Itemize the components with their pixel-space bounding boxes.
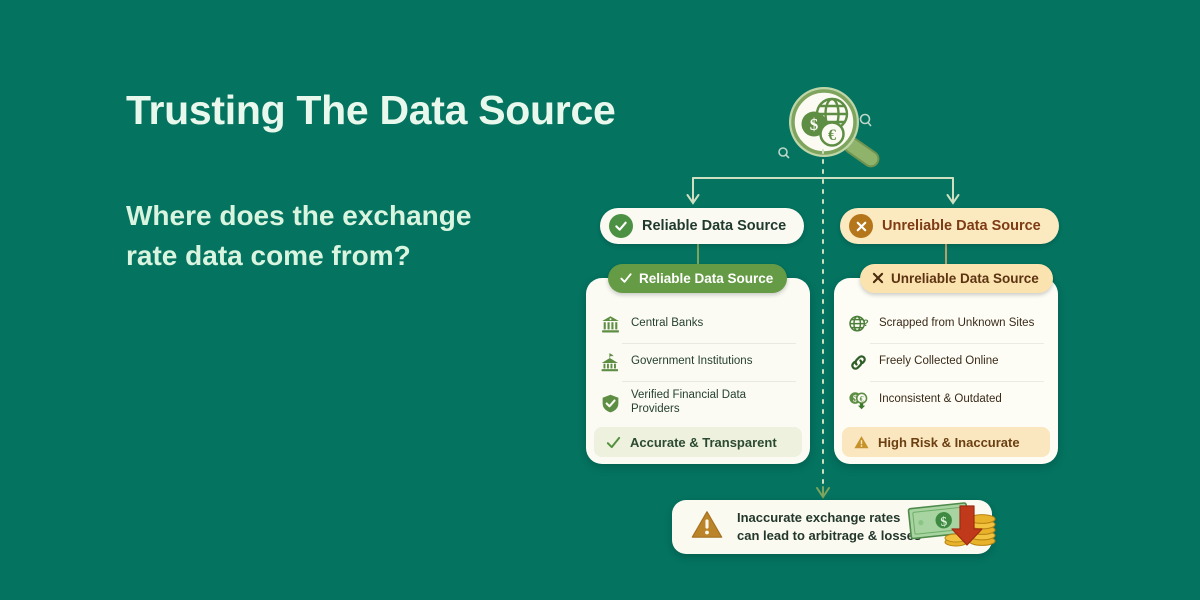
card-footer-unreliable[interactable]: High Risk & Inaccurate	[842, 427, 1050, 457]
government-icon	[599, 351, 621, 373]
branch-pill-label: Unreliable Data Source	[882, 218, 1041, 234]
check-circle-icon	[609, 214, 633, 238]
list-item[interactable]: Freely Collected Online	[834, 343, 1058, 381]
list-item-label: Verified Financial Data Providers	[631, 389, 771, 416]
check-icon	[604, 433, 622, 451]
branch-pill-reliable[interactable]: Reliable Data Source	[600, 208, 804, 244]
list-item-label: Scrapped from Unknown Sites	[879, 317, 1034, 331]
warning-banner[interactable]: Inaccurate exchange rates can lead to ar…	[672, 500, 992, 554]
globe-question-icon: ?	[847, 313, 869, 335]
svg-text:$: $	[810, 115, 819, 134]
magnifying-glass-globe-currency-icon: $ €	[764, 76, 890, 182]
list-item[interactable]: $ € Inconsistent & Outdated	[834, 381, 1058, 419]
money-down-arrow-icon: $	[906, 497, 1004, 557]
link-chain-icon	[847, 351, 869, 373]
card-reliable-data-source: Reliable Data Source Central Banks	[586, 278, 810, 464]
svg-text:€: €	[828, 127, 836, 144]
x-mark-icon	[871, 271, 885, 287]
branch-pill-label: Reliable Data Source	[642, 218, 786, 234]
page-title: Trusting The Data Source	[126, 88, 766, 133]
card-footer-label: Accurate & Transparent	[630, 435, 777, 450]
svg-text:€: €	[859, 394, 863, 403]
list-item[interactable]: Verified Financial Data Providers	[586, 381, 810, 425]
card-footer-label: High Risk & Inaccurate	[878, 435, 1020, 450]
warning-text: Inaccurate exchange rates can lead to ar…	[737, 509, 921, 545]
card-header-reliable: Reliable Data Source	[608, 264, 787, 293]
branch-pill-unreliable[interactable]: Unreliable Data Source	[840, 208, 1059, 244]
x-circle-icon	[849, 214, 873, 238]
list-item-label: Government Institutions	[631, 355, 752, 369]
list-item-label: Inconsistent & Outdated	[879, 393, 1002, 407]
card-header-unreliable: Unreliable Data Source	[860, 264, 1053, 293]
shield-check-icon	[599, 392, 621, 414]
warning-triangle-icon	[690, 508, 724, 547]
bank-icon	[599, 313, 621, 335]
list-item-label: Freely Collected Online	[879, 355, 999, 369]
warning-triangle-icon	[852, 433, 870, 451]
check-icon	[619, 271, 633, 287]
list-item-label: Central Banks	[631, 317, 703, 331]
list-item[interactable]: Central Banks	[586, 305, 810, 343]
currency-down-icon: $ €	[847, 389, 869, 411]
svg-text:?: ?	[862, 317, 868, 328]
card-header-label: Reliable Data Source	[639, 271, 773, 286]
card-footer-reliable[interactable]: Accurate & Transparent	[594, 427, 802, 457]
page-subtitle: Where does the exchange rate data come f…	[126, 196, 486, 276]
list-item[interactable]: Government Institutions	[586, 343, 810, 381]
card-unreliable-data-source: Unreliable Data Source ?	[834, 278, 1058, 464]
infographic-canvas: Trusting The Data Source Where does the …	[0, 0, 1200, 600]
list-item[interactable]: ? Scrapped from Unknown Sites	[834, 305, 1058, 343]
card-header-label: Unreliable Data Source	[891, 271, 1039, 286]
